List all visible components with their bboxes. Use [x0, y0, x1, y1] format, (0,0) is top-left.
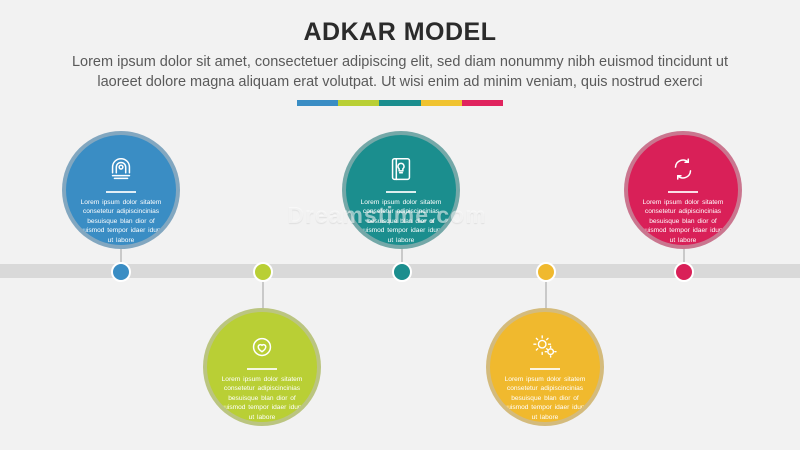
node-divider [386, 191, 416, 193]
infographic-canvas: ADKAR MODEL Lorem ipsum dolor sit amet, … [0, 0, 800, 450]
node-description: Lorem ipsum dolor sitatem consetetur adi… [498, 375, 592, 423]
accent-swatch-1 [297, 100, 338, 106]
node-divider [530, 368, 560, 370]
node-description: Lorem ipsum dolor sitatem consetetur adi… [215, 375, 309, 423]
node-divider [247, 368, 277, 370]
timeline-dot-ability[interactable] [536, 262, 556, 282]
accent-swatch-2 [338, 100, 379, 106]
book-idea-icon [384, 153, 418, 185]
page-title: ADKAR MODEL [0, 18, 800, 47]
node-desire[interactable]: Lorem ipsum dolor sitatem consetetur adi… [203, 308, 321, 426]
node-ability[interactable]: Lorem ipsum dolor sitatem consetetur adi… [486, 308, 604, 426]
node-description: Lorem ipsum dolor sitatem consetetur adi… [74, 198, 168, 246]
accent-color-bar [297, 100, 503, 106]
node-reinforcement[interactable]: Lorem ipsum dolor sitatem consetetur adi… [624, 131, 742, 249]
timeline-dot-desire[interactable] [253, 262, 273, 282]
accent-swatch-3 [379, 100, 420, 106]
accent-swatch-4 [421, 100, 462, 106]
node-knowledge[interactable]: Lorem ipsum dolor sitatem consetetur adi… [342, 131, 460, 249]
accent-swatch-5 [462, 100, 503, 106]
page-subtitle: Lorem ipsum dolor sit amet, consectetuer… [62, 52, 738, 92]
timeline-dot-awareness[interactable] [111, 262, 131, 282]
timeline-dot-reinforcement[interactable] [674, 262, 694, 282]
timeline-dot-knowledge[interactable] [392, 262, 412, 282]
heart-shield-icon [245, 332, 279, 362]
node-awareness[interactable]: Lorem ipsum dolor sitatem consetetur adi… [62, 131, 180, 249]
node-divider [668, 191, 698, 193]
node-description: Lorem ipsum dolor sitatem consetetur adi… [636, 198, 730, 246]
refresh-cycle-icon [666, 153, 700, 185]
fingerprint-icon [104, 153, 138, 185]
gears-icon [528, 332, 562, 362]
node-description: Lorem ipsum dolor sitatem consetetur adi… [354, 198, 448, 246]
node-divider [106, 191, 136, 193]
